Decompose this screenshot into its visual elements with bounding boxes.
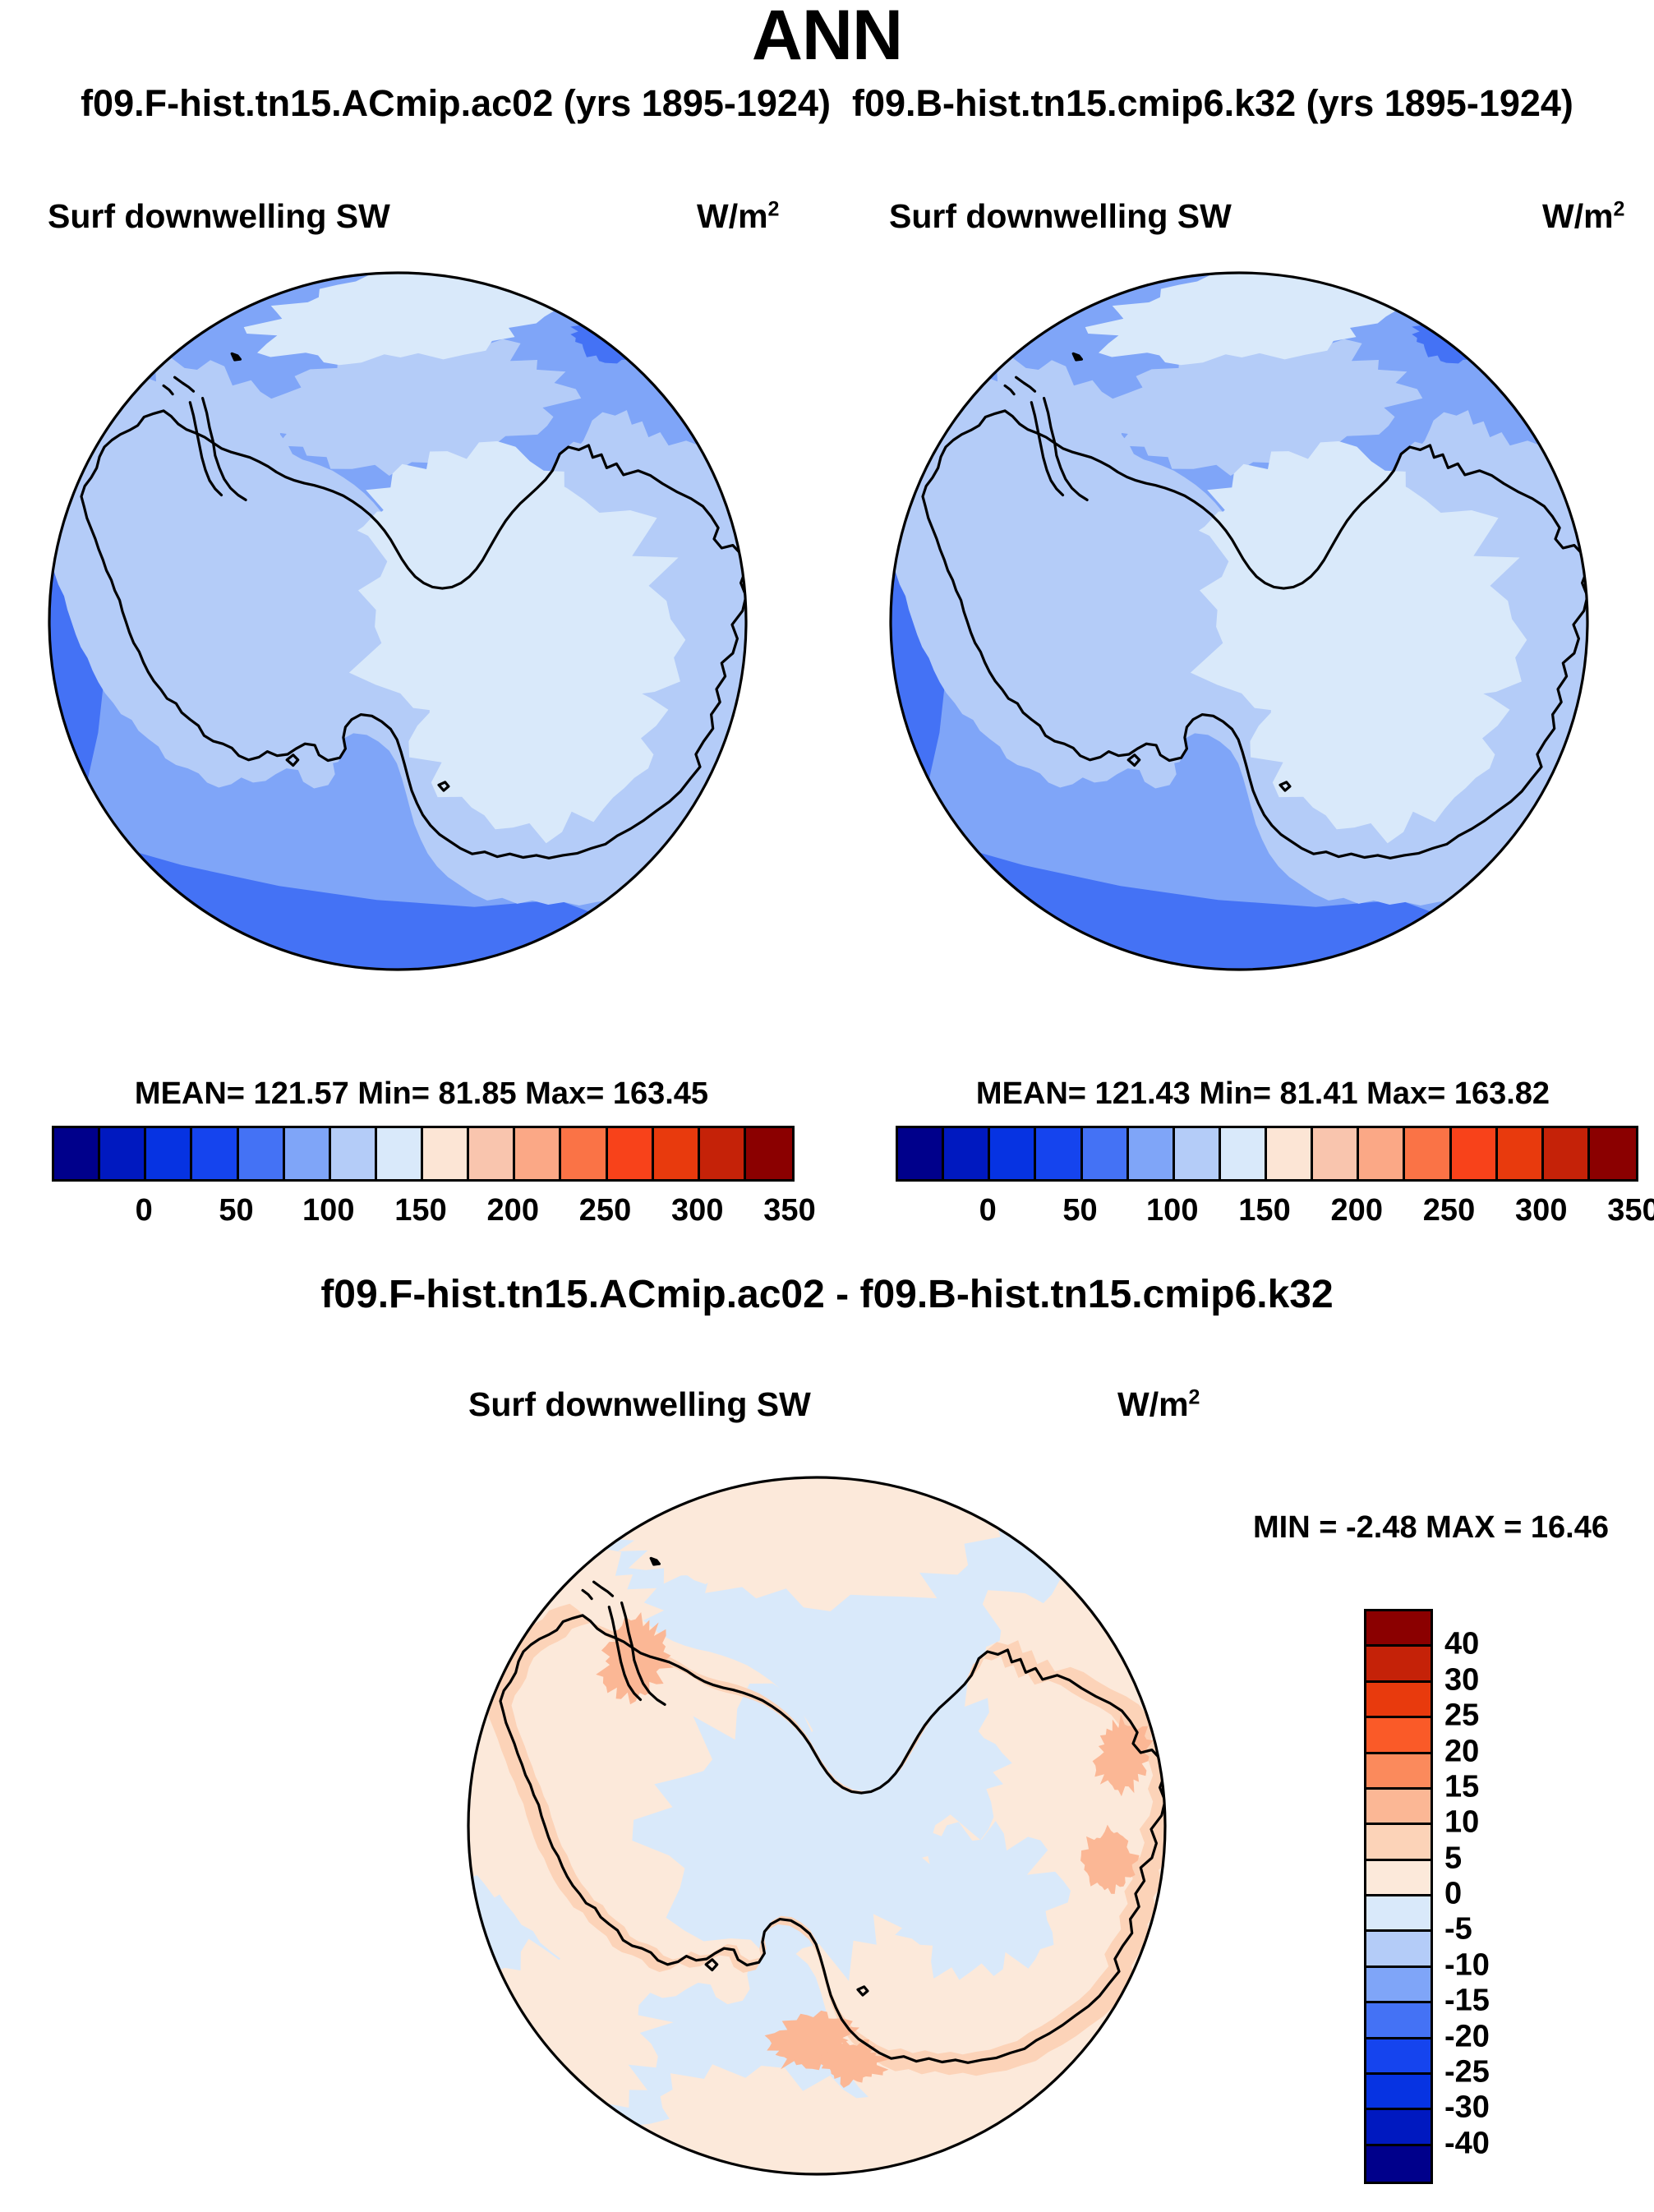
colorbar-cell	[1221, 1128, 1267, 1179]
left-colorbar[interactable]	[52, 1126, 795, 1182]
colorbar-tick-label: -25	[1444, 2054, 1490, 2090]
left-panel-variable-label: Surf downwelling SW	[48, 197, 390, 236]
colorbar-cell	[1366, 1754, 1431, 1790]
colorbar-cell	[1498, 1128, 1544, 1179]
difference-colorbar[interactable]	[1364, 1609, 1433, 2184]
colorbar-cell	[1366, 2110, 1431, 2145]
colorbar-cell	[1405, 1128, 1451, 1179]
colorbar-tick-label: -10	[1444, 1947, 1490, 1983]
colorbar-cell	[469, 1128, 515, 1179]
colorbar-cell	[944, 1128, 990, 1179]
colorbar-cell	[1036, 1128, 1082, 1179]
colorbar-cell	[1452, 1128, 1498, 1179]
colorbar-tick-label: 350	[763, 1193, 815, 1228]
figure-page: ANN f09.F-hist.tn15.ACmip.ac02 (yrs 1895…	[0, 0, 1654, 2212]
colorbar-cell	[1083, 1128, 1129, 1179]
colorbar-cell	[1366, 2075, 1431, 2110]
colorbar-tick-label: 10	[1444, 1805, 1479, 1841]
diff-panel-header: Surf downwelling SW W/m2	[468, 1385, 1232, 1423]
colorbar-cell	[1366, 1932, 1431, 1967]
left-panel-stats: MEAN= 121.57 Min= 81.85 Max= 163.45	[48, 1076, 795, 1112]
colorbar-cell	[1544, 1128, 1590, 1179]
colorbar-cell	[1366, 1611, 1431, 1647]
colorbar-cell	[898, 1128, 944, 1179]
right-panel-header: Surf downwelling SW W/m2	[889, 197, 1637, 235]
colorbar-cell	[239, 1128, 285, 1179]
colorbar-cell	[1366, 1825, 1431, 1860]
left-colorbar-labels: 050100150200250300350	[52, 1193, 790, 1231]
colorbar-tick-label: 5	[1444, 1841, 1462, 1876]
colorbar-cell	[700, 1128, 746, 1179]
right-panel-variable-label: Surf downwelling SW	[889, 197, 1232, 236]
colorbar-tick-label: 40	[1444, 1627, 1479, 1662]
polar-map-svg	[48, 271, 748, 971]
colorbar-tick-label: 100	[302, 1193, 354, 1228]
colorbar-cell	[1366, 1861, 1431, 1896]
colorbar-cell	[990, 1128, 1036, 1179]
colorbar-cell	[1366, 1647, 1431, 1682]
colorbar-cell	[1366, 1718, 1431, 1753]
colorbar-cell	[1366, 1683, 1431, 1718]
diff-panel-variable-label: Surf downwelling SW	[468, 1385, 811, 1424]
page-title: ANN	[0, 0, 1654, 71]
colorbar-cell	[146, 1128, 192, 1179]
colorbar-tick-label: 20	[1444, 1734, 1479, 1769]
colorbar-cell	[1267, 1128, 1313, 1179]
colorbar-tick-label: -40	[1444, 2126, 1490, 2161]
left-panel-header: Surf downwelling SW W/m2	[48, 197, 795, 235]
colorbar-tick-label: 250	[1423, 1193, 1475, 1228]
right-panel-stats: MEAN= 121.43 Min= 81.41 Max= 163.82	[889, 1076, 1637, 1112]
colorbar-tick-label: 30	[1444, 1662, 1479, 1698]
colorbar-cell	[1175, 1128, 1221, 1179]
colorbar-cell	[654, 1128, 700, 1179]
colorbar-tick-label: -5	[1444, 1912, 1472, 1947]
right-polar-map	[889, 271, 1589, 971]
colorbar-cell	[377, 1128, 423, 1179]
colorbar-cell	[1129, 1128, 1175, 1179]
colorbar-cell	[1366, 1790, 1431, 1825]
left-panel-units-label: W/m2	[697, 197, 779, 236]
colorbar-cell	[100, 1128, 146, 1179]
colorbar-cell	[746, 1128, 792, 1179]
colorbar-cell	[331, 1128, 377, 1179]
colorbar-tick-label: 250	[579, 1193, 631, 1228]
colorbar-tick-label: 15	[1444, 1769, 1479, 1804]
colorbar-tick-label: 200	[487, 1193, 539, 1228]
colorbar-tick-label: -20	[1444, 2019, 1490, 2054]
colorbar-tick-label: 0	[979, 1193, 997, 1228]
left-polar-map	[48, 271, 748, 971]
colorbar-tick-label: 300	[1515, 1193, 1567, 1228]
colorbar-cell	[515, 1128, 561, 1179]
case-name-right: f09.B-hist.tn15.cmip6.k32 (yrs 1895-1924…	[852, 82, 1573, 124]
colorbar-cell	[561, 1128, 607, 1179]
difference-polar-map	[467, 1476, 1167, 2176]
case-name-left: f09.F-hist.tn15.ACmip.ac02 (yrs 1895-192…	[81, 82, 831, 124]
colorbar-tick-label: 300	[671, 1193, 723, 1228]
colorbar-cell	[608, 1128, 654, 1179]
colorbar-tick-label: 0	[1444, 1877, 1462, 1912]
colorbar-cell	[423, 1128, 469, 1179]
colorbar-cell	[1366, 1968, 1431, 2003]
colorbar-tick-label: 50	[1062, 1193, 1097, 1228]
polar-map-svg	[467, 1476, 1167, 2176]
difference-colorbar-labels: 40302520151050-5-10-15-20-25-30-40	[1444, 1609, 1576, 2179]
colorbar-cell	[1590, 1128, 1636, 1179]
diff-panel-units-label: W/m2	[1117, 1385, 1200, 1424]
colorbar-tick-label: 200	[1331, 1193, 1383, 1228]
colorbar-tick-label: 150	[394, 1193, 446, 1228]
right-colorbar[interactable]	[896, 1126, 1638, 1182]
colorbar-cell	[1366, 1896, 1431, 1932]
colorbar-tick-label: 350	[1607, 1193, 1654, 1228]
colorbar-cell	[1366, 2146, 1431, 2182]
colorbar-tick-label: 50	[219, 1193, 253, 1228]
colorbar-tick-label: 150	[1238, 1193, 1290, 1228]
polar-map-svg	[889, 271, 1589, 971]
colorbar-tick-label: -30	[1444, 2090, 1490, 2126]
difference-minmax: MIN = -2.48 MAX = 16.46	[1253, 1510, 1609, 1546]
colorbar-cell	[54, 1128, 100, 1179]
colorbar-cell	[1366, 2003, 1431, 2039]
colorbar-cell	[1366, 2039, 1431, 2075]
right-colorbar-labels: 050100150200250300350	[896, 1193, 1633, 1231]
case-name-line: f09.F-hist.tn15.ACmip.ac02 (yrs 1895-192…	[0, 82, 1654, 125]
right-panel-units-label: W/m2	[1542, 197, 1624, 236]
colorbar-cell	[1313, 1128, 1359, 1179]
colorbar-cell	[285, 1128, 331, 1179]
colorbar-tick-label: 0	[136, 1193, 153, 1228]
colorbar-tick-label: 100	[1146, 1193, 1198, 1228]
colorbar-tick-label: -15	[1444, 1984, 1490, 2019]
colorbar-cell	[1359, 1128, 1405, 1179]
difference-title: f09.F-hist.tn15.ACmip.ac02 - f09.B-hist.…	[0, 1272, 1654, 1317]
colorbar-tick-label: 25	[1444, 1698, 1479, 1734]
colorbar-cell	[192, 1128, 238, 1179]
